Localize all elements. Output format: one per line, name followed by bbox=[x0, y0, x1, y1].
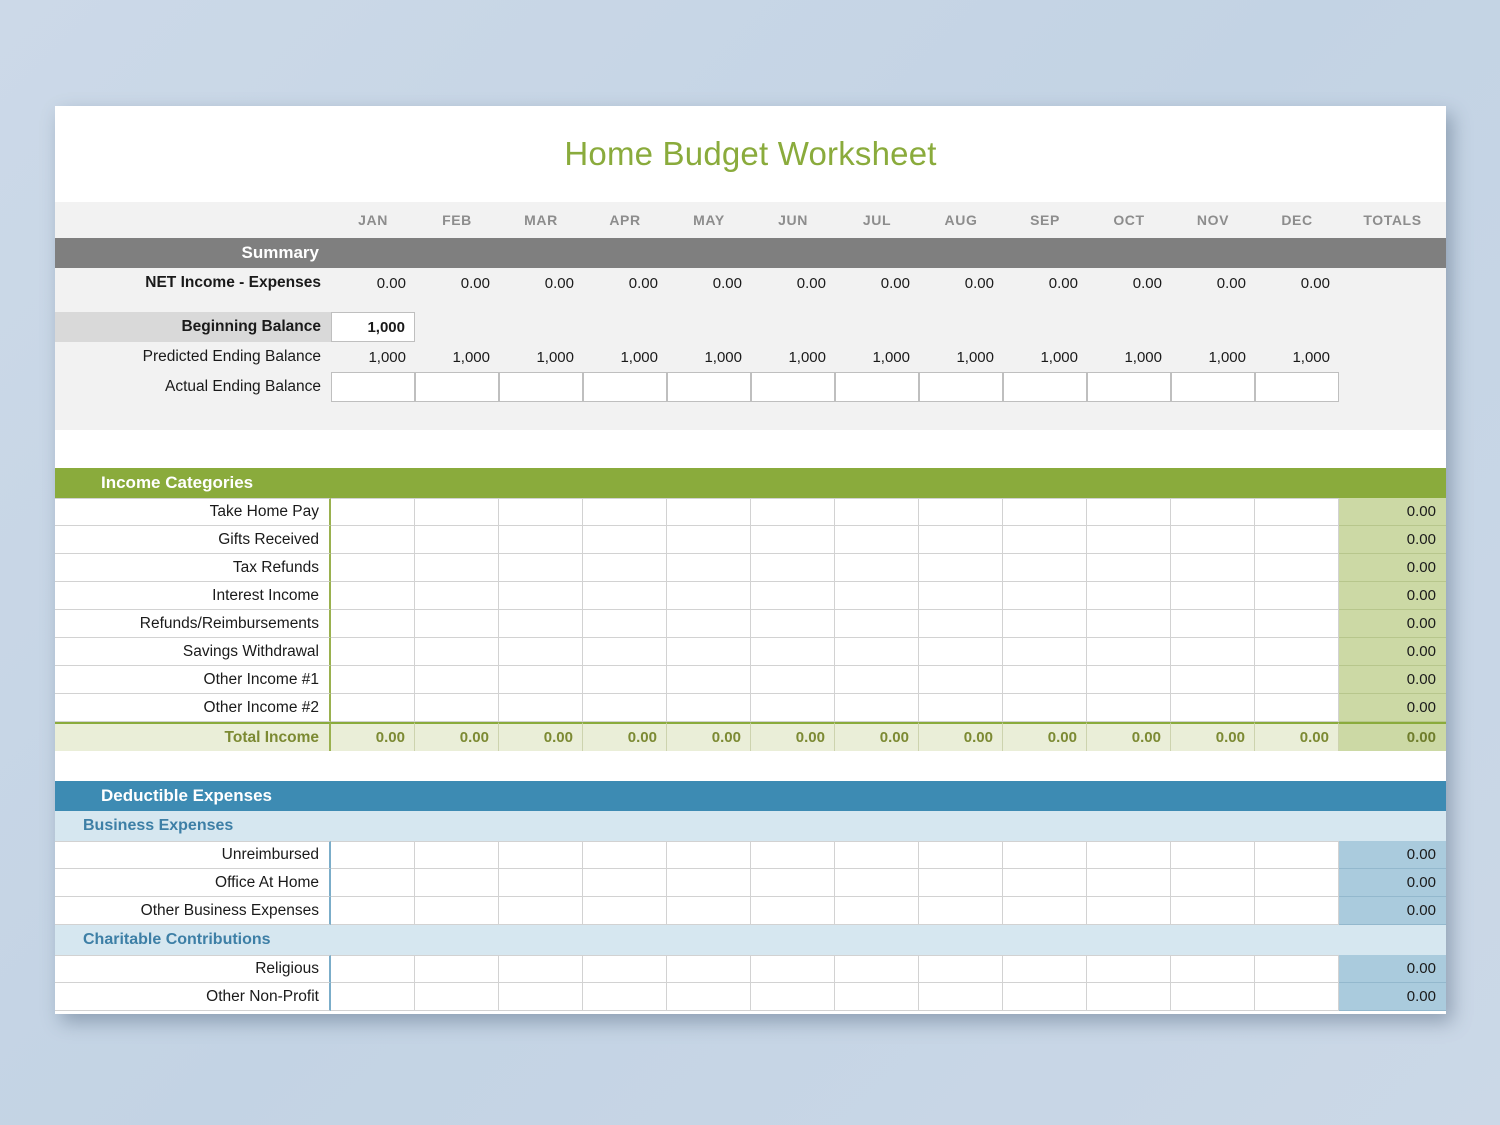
deductible-religious-cell-jun[interactable] bbox=[751, 955, 835, 983]
income-other-income-1-cell-jan[interactable] bbox=[331, 666, 415, 694]
net-income-apr: 0.00 bbox=[583, 268, 667, 298]
income-other-income-2-cell-jul[interactable] bbox=[835, 694, 919, 722]
actual-ending-apr-input[interactable] bbox=[583, 372, 667, 402]
deductible-unreimbursed-cell-aug[interactable] bbox=[919, 841, 1003, 869]
column-header-jan: JAN bbox=[331, 202, 415, 238]
income-savings-withdrawal-cell-jan[interactable] bbox=[331, 638, 415, 666]
income-tax-refunds-cell-nov[interactable] bbox=[1171, 554, 1255, 582]
income-other-income-1-cell-aug[interactable] bbox=[919, 666, 1003, 694]
income-refunds-reimbursements-cell-mar[interactable] bbox=[499, 610, 583, 638]
predicted-ending-dec: 1,000 bbox=[1255, 342, 1339, 372]
deductible-office-at-home-total: 0.00 bbox=[1339, 869, 1446, 897]
predicted-ending-apr: 1,000 bbox=[583, 342, 667, 372]
income-interest-income-cell-feb[interactable] bbox=[415, 582, 499, 610]
column-header-jun: JUN bbox=[751, 202, 835, 238]
income-other-income-2-row: Other Income #20.00 bbox=[55, 694, 1446, 722]
beginning-balance-feb bbox=[415, 312, 499, 342]
actual-ending-total bbox=[1339, 372, 1446, 402]
income-tax-refunds-cell-mar[interactable] bbox=[499, 554, 583, 582]
income-gifts-received-cell-sep[interactable] bbox=[1003, 526, 1087, 554]
deductible-other-non-profit-cell-jul[interactable] bbox=[835, 983, 919, 1011]
income-gifts-received-total: 0.00 bbox=[1339, 526, 1446, 554]
predicted-ending-jun: 1,000 bbox=[751, 342, 835, 372]
deductible-section-banner: Deductible Expenses bbox=[55, 781, 1446, 811]
income-other-income-1-row: Other Income #10.00 bbox=[55, 666, 1446, 694]
income-interest-income-cell-apr[interactable] bbox=[583, 582, 667, 610]
income-savings-withdrawal-cell-dec[interactable] bbox=[1255, 638, 1339, 666]
deductible-other-non-profit-row: Other Non-Profit0.00 bbox=[55, 983, 1446, 1011]
income-tax-refunds-total: 0.00 bbox=[1339, 554, 1446, 582]
income-other-income-2-cell-jun[interactable] bbox=[751, 694, 835, 722]
income-tax-refunds-cell-jul[interactable] bbox=[835, 554, 919, 582]
income-banner-label: Income Categories bbox=[55, 473, 331, 493]
column-header-oct: OCT bbox=[1087, 202, 1171, 238]
budget-worksheet: Home Budget Worksheet JAN FEB MAR APR MA… bbox=[55, 106, 1446, 1014]
income-savings-withdrawal-cell-sep[interactable] bbox=[1003, 638, 1087, 666]
income-interest-income-cell-oct[interactable] bbox=[1087, 582, 1171, 610]
income-take-home-pay-cell-mar[interactable] bbox=[499, 498, 583, 526]
income-savings-withdrawal-total: 0.00 bbox=[1339, 638, 1446, 666]
income-other-income-2-cell-jan[interactable] bbox=[331, 694, 415, 722]
beginning-balance-mar bbox=[499, 312, 583, 342]
row-label: NET Income - Expenses bbox=[55, 268, 331, 298]
income-take-home-pay-cell-jun[interactable] bbox=[751, 498, 835, 526]
deductible-unreimbursed-cell-feb[interactable] bbox=[415, 841, 499, 869]
beginning-balance-jan-input[interactable]: 1,000 bbox=[331, 312, 415, 342]
row-label: Refunds/Reimbursements bbox=[55, 610, 331, 638]
income-interest-income-cell-jun[interactable] bbox=[751, 582, 835, 610]
deductible-other-non-profit-cell-aug[interactable] bbox=[919, 983, 1003, 1011]
income-other-income-1-total: 0.00 bbox=[1339, 666, 1446, 694]
net-income-aug: 0.00 bbox=[919, 268, 1003, 298]
actual-ending-jan-input[interactable] bbox=[331, 372, 415, 402]
income-take-home-pay-cell-sep[interactable] bbox=[1003, 498, 1087, 526]
total-income-jan: 0.00 bbox=[331, 722, 415, 751]
deductible-unreimbursed-cell-may[interactable] bbox=[667, 841, 751, 869]
column-header-sep: SEP bbox=[1003, 202, 1087, 238]
total-income-apr: 0.00 bbox=[583, 722, 667, 751]
section-gap-income-deductible bbox=[55, 751, 1446, 781]
row-label: Other Non-Profit bbox=[55, 983, 331, 1011]
income-other-income-1-cell-dec[interactable] bbox=[1255, 666, 1339, 694]
net-income-jul: 0.00 bbox=[835, 268, 919, 298]
column-header-row: JAN FEB MAR APR MAY JUN JUL AUG SEP OCT … bbox=[55, 202, 1446, 238]
row-label: Gifts Received bbox=[55, 526, 331, 554]
income-tax-refunds-cell-sep[interactable] bbox=[1003, 554, 1087, 582]
income-take-home-pay-row: Take Home Pay0.00 bbox=[55, 498, 1446, 526]
income-savings-withdrawal-cell-jul[interactable] bbox=[835, 638, 919, 666]
net-income-feb: 0.00 bbox=[415, 268, 499, 298]
deductible-other-non-profit-cell-dec[interactable] bbox=[1255, 983, 1339, 1011]
row-label: Actual Ending Balance bbox=[55, 372, 331, 402]
income-refunds-reimbursements-cell-nov[interactable] bbox=[1171, 610, 1255, 638]
deductible-office-at-home-cell-nov[interactable] bbox=[1171, 869, 1255, 897]
income-refunds-reimbursements-cell-oct[interactable] bbox=[1087, 610, 1171, 638]
page-title: Home Budget Worksheet bbox=[564, 135, 936, 173]
income-other-income-1-cell-jun[interactable] bbox=[751, 666, 835, 694]
income-take-home-pay-cell-dec[interactable] bbox=[1255, 498, 1339, 526]
section-gap-summary-income bbox=[55, 430, 1446, 468]
predicted-ending-may: 1,000 bbox=[667, 342, 751, 372]
deductible-unreimbursed-cell-jan[interactable] bbox=[331, 841, 415, 869]
row-label: Predicted Ending Balance bbox=[55, 342, 331, 372]
income-interest-income-cell-sep[interactable] bbox=[1003, 582, 1087, 610]
income-gifts-received-cell-jun[interactable] bbox=[751, 526, 835, 554]
income-other-income-2-cell-nov[interactable] bbox=[1171, 694, 1255, 722]
income-tax-refunds-row: Tax Refunds0.00 bbox=[55, 554, 1446, 582]
income-take-home-pay-cell-jan[interactable] bbox=[331, 498, 415, 526]
income-gifts-received-cell-apr[interactable] bbox=[583, 526, 667, 554]
net-income-dec: 0.00 bbox=[1255, 268, 1339, 298]
income-refunds-reimbursements-cell-feb[interactable] bbox=[415, 610, 499, 638]
actual-ending-dec-input[interactable] bbox=[1255, 372, 1339, 402]
predicted-ending-total bbox=[1339, 342, 1446, 372]
income-gifts-received-cell-jan[interactable] bbox=[331, 526, 415, 554]
deductible-office-at-home-row: Office At Home0.00 bbox=[55, 869, 1446, 897]
column-header-feb: FEB bbox=[415, 202, 499, 238]
deductible-other-non-profit-cell-mar[interactable] bbox=[499, 983, 583, 1011]
income-other-income-1-cell-apr[interactable] bbox=[583, 666, 667, 694]
income-gifts-received-cell-feb[interactable] bbox=[415, 526, 499, 554]
income-savings-withdrawal-row: Savings Withdrawal0.00 bbox=[55, 638, 1446, 666]
income-tax-refunds-cell-oct[interactable] bbox=[1087, 554, 1171, 582]
deductible-unreimbursed-cell-sep[interactable] bbox=[1003, 841, 1087, 869]
income-interest-income-cell-dec[interactable] bbox=[1255, 582, 1339, 610]
summary-row-predicted-ending-balance: Predicted Ending Balance 1,000 1,000 1,0… bbox=[55, 342, 1446, 372]
row-label: Tax Refunds bbox=[55, 554, 331, 582]
beginning-balance-nov bbox=[1171, 312, 1255, 342]
column-header-apr: APR bbox=[583, 202, 667, 238]
summary-row-actual-ending-balance: Actual Ending Balance bbox=[55, 372, 1446, 402]
predicted-ending-jan: 1,000 bbox=[331, 342, 415, 372]
predicted-ending-mar: 1,000 bbox=[499, 342, 583, 372]
column-header-totals: TOTALS bbox=[1339, 202, 1446, 238]
income-other-income-2-total: 0.00 bbox=[1339, 694, 1446, 722]
deductible-religious-cell-oct[interactable] bbox=[1087, 955, 1171, 983]
income-other-income-1-cell-oct[interactable] bbox=[1087, 666, 1171, 694]
total-income-feb: 0.00 bbox=[415, 722, 499, 751]
beginning-balance-may bbox=[667, 312, 751, 342]
deductible-religious-cell-jan[interactable] bbox=[331, 955, 415, 983]
deductible-religious-cell-feb[interactable] bbox=[415, 955, 499, 983]
deductible-office-at-home-cell-jan[interactable] bbox=[331, 869, 415, 897]
column-header-aug: AUG bbox=[919, 202, 1003, 238]
income-take-home-pay-cell-jul[interactable] bbox=[835, 498, 919, 526]
title-band: Home Budget Worksheet bbox=[55, 106, 1446, 202]
summary-bottom-pad bbox=[55, 402, 1446, 430]
actual-ending-oct-input[interactable] bbox=[1087, 372, 1171, 402]
net-income-total bbox=[1339, 268, 1446, 298]
income-savings-withdrawal-cell-nov[interactable] bbox=[1171, 638, 1255, 666]
deductible-unreimbursed-row: Unreimbursed0.00 bbox=[55, 841, 1446, 869]
income-savings-withdrawal-cell-mar[interactable] bbox=[499, 638, 583, 666]
total-income-dec: 0.00 bbox=[1255, 722, 1339, 751]
deductible-unreimbursed-cell-jul[interactable] bbox=[835, 841, 919, 869]
deductible-other-non-profit-cell-apr[interactable] bbox=[583, 983, 667, 1011]
income-take-home-pay-cell-may[interactable] bbox=[667, 498, 751, 526]
predicted-ending-jul: 1,000 bbox=[835, 342, 919, 372]
income-take-home-pay-cell-apr[interactable] bbox=[583, 498, 667, 526]
column-header-dec: DEC bbox=[1255, 202, 1339, 238]
summary-banner-label: Summary bbox=[55, 243, 331, 263]
deductible-office-at-home-cell-sep[interactable] bbox=[1003, 869, 1087, 897]
income-refunds-reimbursements-cell-jul[interactable] bbox=[835, 610, 919, 638]
subheading-label: Charitable Contributions bbox=[55, 931, 331, 949]
deductible-other-business-expenses-cell-oct[interactable] bbox=[1087, 897, 1171, 925]
income-gifts-received-cell-may[interactable] bbox=[667, 526, 751, 554]
income-other-income-2-cell-oct[interactable] bbox=[1087, 694, 1171, 722]
deductible-office-at-home-cell-apr[interactable] bbox=[583, 869, 667, 897]
income-other-income-1-cell-nov[interactable] bbox=[1171, 666, 1255, 694]
income-gifts-received-cell-jul[interactable] bbox=[835, 526, 919, 554]
income-interest-income-cell-nov[interactable] bbox=[1171, 582, 1255, 610]
income-other-income-1-cell-jul[interactable] bbox=[835, 666, 919, 694]
deductible-banner-label: Deductible Expenses bbox=[55, 786, 331, 806]
deductible-unreimbursed-cell-oct[interactable] bbox=[1087, 841, 1171, 869]
total-income-mar: 0.00 bbox=[499, 722, 583, 751]
deductible-other-business-expenses-row: Other Business Expenses0.00 bbox=[55, 897, 1446, 925]
deductible-other-business-expenses-cell-aug[interactable] bbox=[919, 897, 1003, 925]
row-label: Total Income bbox=[55, 722, 331, 751]
income-gifts-received-cell-oct[interactable] bbox=[1087, 526, 1171, 554]
column-header-may: MAY bbox=[667, 202, 751, 238]
total-income-sep: 0.00 bbox=[1003, 722, 1087, 751]
row-label: Other Income #2 bbox=[55, 694, 331, 722]
deductible-office-at-home-cell-oct[interactable] bbox=[1087, 869, 1171, 897]
deductible-other-business-expenses-cell-may[interactable] bbox=[667, 897, 751, 925]
income-tax-refunds-cell-jan[interactable] bbox=[331, 554, 415, 582]
net-income-may: 0.00 bbox=[667, 268, 751, 298]
predicted-ending-sep: 1,000 bbox=[1003, 342, 1087, 372]
deductible-religious-cell-nov[interactable] bbox=[1171, 955, 1255, 983]
income-gifts-received-cell-mar[interactable] bbox=[499, 526, 583, 554]
row-label: Other Business Expenses bbox=[55, 897, 331, 925]
income-savings-withdrawal-cell-may[interactable] bbox=[667, 638, 751, 666]
row-label: Beginning Balance bbox=[55, 312, 331, 342]
subheading-label: Business Expenses bbox=[55, 817, 331, 835]
deductible-other-non-profit-cell-feb[interactable] bbox=[415, 983, 499, 1011]
income-tax-refunds-cell-jun[interactable] bbox=[751, 554, 835, 582]
deductible-other-business-expenses-cell-apr[interactable] bbox=[583, 897, 667, 925]
income-savings-withdrawal-cell-feb[interactable] bbox=[415, 638, 499, 666]
income-refunds-reimbursements-cell-jan[interactable] bbox=[331, 610, 415, 638]
income-take-home-pay-cell-feb[interactable] bbox=[415, 498, 499, 526]
beginning-balance-aug bbox=[919, 312, 1003, 342]
income-take-home-pay-cell-aug[interactable] bbox=[919, 498, 1003, 526]
deductible-office-at-home-cell-feb[interactable] bbox=[415, 869, 499, 897]
actual-ending-may-input[interactable] bbox=[667, 372, 751, 402]
summary-row-beginning-balance: Beginning Balance 1,000 bbox=[55, 312, 1446, 342]
deductible-unreimbursed-cell-jun[interactable] bbox=[751, 841, 835, 869]
income-savings-withdrawal-cell-oct[interactable] bbox=[1087, 638, 1171, 666]
deductible-groups-container: Business ExpensesUnreimbursed0.00Office … bbox=[55, 811, 1446, 1011]
deductible-office-at-home-cell-aug[interactable] bbox=[919, 869, 1003, 897]
deductible-other-non-profit-cell-may[interactable] bbox=[667, 983, 751, 1011]
income-interest-income-cell-jul[interactable] bbox=[835, 582, 919, 610]
income-gifts-received-cell-dec[interactable] bbox=[1255, 526, 1339, 554]
actual-ending-aug-input[interactable] bbox=[919, 372, 1003, 402]
deductible-religious-cell-dec[interactable] bbox=[1255, 955, 1339, 983]
deductible-other-non-profit-cell-jan[interactable] bbox=[331, 983, 415, 1011]
income-refunds-reimbursements-cell-aug[interactable] bbox=[919, 610, 1003, 638]
income-take-home-pay-cell-oct[interactable] bbox=[1087, 498, 1171, 526]
deductible-subheading-charitable-contributions: Charitable Contributions bbox=[55, 925, 1446, 955]
income-other-income-2-cell-feb[interactable] bbox=[415, 694, 499, 722]
deductible-religious-cell-mar[interactable] bbox=[499, 955, 583, 983]
column-header-mar: MAR bbox=[499, 202, 583, 238]
deductible-other-business-expenses-total: 0.00 bbox=[1339, 897, 1446, 925]
income-gifts-received-cell-nov[interactable] bbox=[1171, 526, 1255, 554]
income-interest-income-row: Interest Income0.00 bbox=[55, 582, 1446, 610]
row-label: Unreimbursed bbox=[55, 841, 331, 869]
deductible-other-business-expenses-cell-mar[interactable] bbox=[499, 897, 583, 925]
income-other-income-1-cell-mar[interactable] bbox=[499, 666, 583, 694]
beginning-balance-jul bbox=[835, 312, 919, 342]
total-income-total: 0.00 bbox=[1339, 722, 1446, 751]
total-income-nov: 0.00 bbox=[1171, 722, 1255, 751]
income-interest-income-cell-aug[interactable] bbox=[919, 582, 1003, 610]
deductible-religious-cell-aug[interactable] bbox=[919, 955, 1003, 983]
income-other-income-1-cell-feb[interactable] bbox=[415, 666, 499, 694]
net-income-mar: 0.00 bbox=[499, 268, 583, 298]
income-other-income-2-cell-apr[interactable] bbox=[583, 694, 667, 722]
deductible-other-non-profit-cell-sep[interactable] bbox=[1003, 983, 1087, 1011]
header-label-spacer bbox=[55, 202, 331, 238]
income-refunds-reimbursements-total: 0.00 bbox=[1339, 610, 1446, 638]
deductible-unreimbursed-cell-dec[interactable] bbox=[1255, 841, 1339, 869]
income-refunds-reimbursements-row: Refunds/Reimbursements0.00 bbox=[55, 610, 1446, 638]
deductible-unreimbursed-total: 0.00 bbox=[1339, 841, 1446, 869]
beginning-balance-total bbox=[1339, 312, 1446, 342]
income-tax-refunds-cell-feb[interactable] bbox=[415, 554, 499, 582]
deductible-unreimbursed-cell-apr[interactable] bbox=[583, 841, 667, 869]
beginning-balance-apr bbox=[583, 312, 667, 342]
deductible-other-business-expenses-cell-feb[interactable] bbox=[415, 897, 499, 925]
actual-ending-mar-input[interactable] bbox=[499, 372, 583, 402]
deductible-other-business-expenses-cell-dec[interactable] bbox=[1255, 897, 1339, 925]
income-take-home-pay-total: 0.00 bbox=[1339, 498, 1446, 526]
deductible-unreimbursed-cell-mar[interactable] bbox=[499, 841, 583, 869]
summary-block: NET Income - Expenses 0.00 0.00 0.00 0.0… bbox=[55, 268, 1446, 430]
summary-section-banner: Summary bbox=[55, 238, 1446, 268]
page-background: Home Budget Worksheet JAN FEB MAR APR MA… bbox=[0, 0, 1500, 1125]
deductible-office-at-home-cell-may[interactable] bbox=[667, 869, 751, 897]
row-label: Religious bbox=[55, 955, 331, 983]
income-savings-withdrawal-cell-apr[interactable] bbox=[583, 638, 667, 666]
income-other-income-2-cell-mar[interactable] bbox=[499, 694, 583, 722]
deductible-other-business-expenses-cell-jun[interactable] bbox=[751, 897, 835, 925]
beginning-balance-oct bbox=[1087, 312, 1171, 342]
net-income-jun: 0.00 bbox=[751, 268, 835, 298]
deductible-subheading-business-expenses: Business Expenses bbox=[55, 811, 1446, 841]
deductible-religious-total: 0.00 bbox=[1339, 955, 1446, 983]
predicted-ending-feb: 1,000 bbox=[415, 342, 499, 372]
income-interest-income-cell-jan[interactable] bbox=[331, 582, 415, 610]
total-income-jun: 0.00 bbox=[751, 722, 835, 751]
income-other-income-2-cell-aug[interactable] bbox=[919, 694, 1003, 722]
predicted-ending-nov: 1,000 bbox=[1171, 342, 1255, 372]
deductible-office-at-home-cell-jun[interactable] bbox=[751, 869, 835, 897]
actual-ending-jul-input[interactable] bbox=[835, 372, 919, 402]
income-other-income-1-cell-sep[interactable] bbox=[1003, 666, 1087, 694]
deductible-other-business-expenses-cell-jul[interactable] bbox=[835, 897, 919, 925]
deductible-religious-cell-may[interactable] bbox=[667, 955, 751, 983]
income-gifts-received-row: Gifts Received0.00 bbox=[55, 526, 1446, 554]
income-savings-withdrawal-cell-jun[interactable] bbox=[751, 638, 835, 666]
predicted-ending-aug: 1,000 bbox=[919, 342, 1003, 372]
actual-ending-jun-input[interactable] bbox=[751, 372, 835, 402]
beginning-balance-dec bbox=[1255, 312, 1339, 342]
income-refunds-reimbursements-cell-dec[interactable] bbox=[1255, 610, 1339, 638]
total-income-aug: 0.00 bbox=[919, 722, 1003, 751]
income-section-banner: Income Categories bbox=[55, 468, 1446, 498]
income-tax-refunds-cell-aug[interactable] bbox=[919, 554, 1003, 582]
income-take-home-pay-cell-nov[interactable] bbox=[1171, 498, 1255, 526]
deductible-office-at-home-cell-mar[interactable] bbox=[499, 869, 583, 897]
deductible-other-non-profit-total: 0.00 bbox=[1339, 983, 1446, 1011]
row-label: Interest Income bbox=[55, 582, 331, 610]
income-savings-withdrawal-cell-aug[interactable] bbox=[919, 638, 1003, 666]
income-other-income-2-cell-dec[interactable] bbox=[1255, 694, 1339, 722]
actual-ending-nov-input[interactable] bbox=[1171, 372, 1255, 402]
deductible-office-at-home-cell-jul[interactable] bbox=[835, 869, 919, 897]
deductible-other-non-profit-cell-nov[interactable] bbox=[1171, 983, 1255, 1011]
income-other-income-2-cell-may[interactable] bbox=[667, 694, 751, 722]
deductible-religious-cell-sep[interactable] bbox=[1003, 955, 1087, 983]
income-tax-refunds-cell-dec[interactable] bbox=[1255, 554, 1339, 582]
income-rows-container: Take Home Pay0.00Gifts Received0.00Tax R… bbox=[55, 498, 1446, 722]
income-gifts-received-cell-aug[interactable] bbox=[919, 526, 1003, 554]
income-interest-income-total: 0.00 bbox=[1339, 582, 1446, 610]
income-interest-income-cell-mar[interactable] bbox=[499, 582, 583, 610]
row-label: Savings Withdrawal bbox=[55, 638, 331, 666]
beginning-balance-jun bbox=[751, 312, 835, 342]
deductible-religious-row: Religious0.00 bbox=[55, 955, 1446, 983]
deductible-other-business-expenses-cell-nov[interactable] bbox=[1171, 897, 1255, 925]
beginning-balance-sep bbox=[1003, 312, 1087, 342]
column-header-nov: NOV bbox=[1171, 202, 1255, 238]
deductible-other-business-expenses-cell-jan[interactable] bbox=[331, 897, 415, 925]
income-refunds-reimbursements-cell-jun[interactable] bbox=[751, 610, 835, 638]
deductible-other-non-profit-cell-oct[interactable] bbox=[1087, 983, 1171, 1011]
net-income-nov: 0.00 bbox=[1171, 268, 1255, 298]
deductible-other-business-expenses-cell-sep[interactable] bbox=[1003, 897, 1087, 925]
income-interest-income-cell-may[interactable] bbox=[667, 582, 751, 610]
total-income-may: 0.00 bbox=[667, 722, 751, 751]
income-refunds-reimbursements-cell-apr[interactable] bbox=[583, 610, 667, 638]
deductible-office-at-home-cell-dec[interactable] bbox=[1255, 869, 1339, 897]
deductible-other-non-profit-cell-jun[interactable] bbox=[751, 983, 835, 1011]
total-income-jul: 0.00 bbox=[835, 722, 919, 751]
income-total-row: Total Income 0.00 0.00 0.00 0.00 0.00 0.… bbox=[55, 722, 1446, 751]
income-refunds-reimbursements-cell-sep[interactable] bbox=[1003, 610, 1087, 638]
income-refunds-reimbursements-cell-may[interactable] bbox=[667, 610, 751, 638]
income-other-income-1-cell-may[interactable] bbox=[667, 666, 751, 694]
income-other-income-2-cell-sep[interactable] bbox=[1003, 694, 1087, 722]
actual-ending-sep-input[interactable] bbox=[1003, 372, 1087, 402]
summary-spacer bbox=[55, 298, 1446, 312]
income-tax-refunds-cell-apr[interactable] bbox=[583, 554, 667, 582]
actual-ending-feb-input[interactable] bbox=[415, 372, 499, 402]
row-label: Office At Home bbox=[55, 869, 331, 897]
net-income-jan: 0.00 bbox=[331, 268, 415, 298]
predicted-ending-oct: 1,000 bbox=[1087, 342, 1171, 372]
deductible-religious-cell-jul[interactable] bbox=[835, 955, 919, 983]
summary-row-net-income: NET Income - Expenses 0.00 0.00 0.00 0.0… bbox=[55, 268, 1446, 298]
deductible-unreimbursed-cell-nov[interactable] bbox=[1171, 841, 1255, 869]
income-tax-refunds-cell-may[interactable] bbox=[667, 554, 751, 582]
deductible-religious-cell-apr[interactable] bbox=[583, 955, 667, 983]
